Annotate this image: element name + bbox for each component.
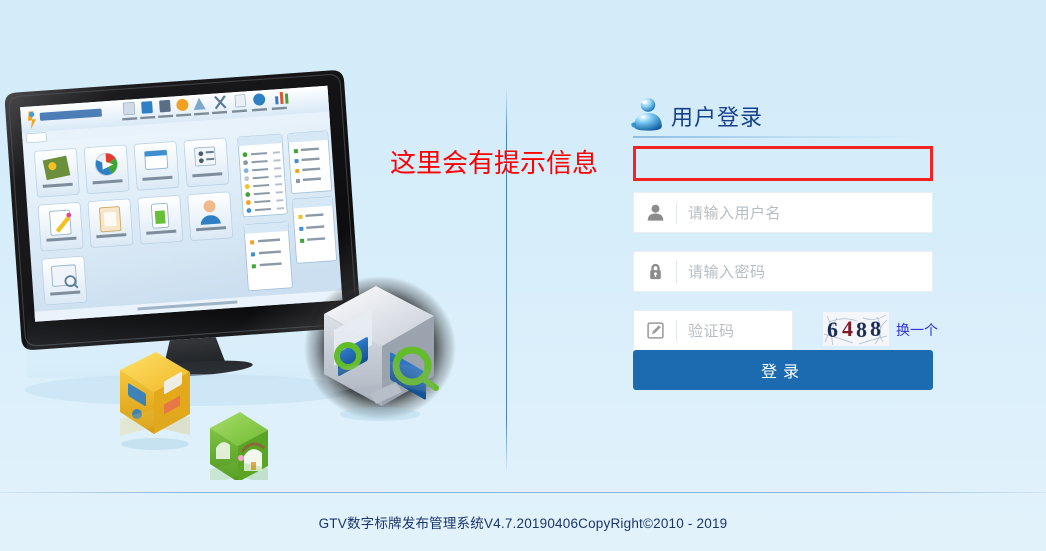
msn-user-icon: [629, 95, 667, 133]
captcha-field[interactable]: 验证码: [633, 310, 793, 351]
lock-icon: [634, 252, 676, 291]
svg-text:8: 8: [870, 316, 881, 341]
captcha-image[interactable]: 6 4 8 8: [823, 312, 889, 346]
captcha-placeholder: 验证码: [677, 320, 735, 341]
alert-message: 这里会有提示信息: [390, 143, 630, 180]
password-placeholder: 请输入密码: [677, 261, 766, 282]
svg-text:8: 8: [856, 317, 867, 342]
svg-text:6: 6: [827, 317, 838, 342]
password-field[interactable]: 请输入密码: [633, 251, 933, 292]
edit-pencil-icon: [634, 311, 676, 350]
header-rule: [633, 136, 925, 138]
svg-text:4: 4: [842, 316, 853, 341]
footer-copyright: GTV数字标牌发布管理系统V4.7.20190406CopyRight©2010…: [0, 512, 1046, 532]
page-title: 用户登录: [671, 100, 763, 132]
footer-divider: [0, 492, 1046, 493]
username-field[interactable]: 请输入用户名: [633, 192, 933, 233]
user-icon: [634, 193, 676, 232]
alert-box: [633, 146, 933, 181]
product-illustration: [0, 60, 500, 480]
captcha-refresh-link[interactable]: 换一个: [896, 320, 938, 340]
login-header: 用户登录: [633, 96, 953, 140]
username-placeholder: 请输入用户名: [677, 202, 781, 223]
login-form: 用户登录 这里会有提示信息 请输入用户名 请输入密码: [633, 96, 953, 140]
login-button[interactable]: 登录: [633, 350, 933, 390]
